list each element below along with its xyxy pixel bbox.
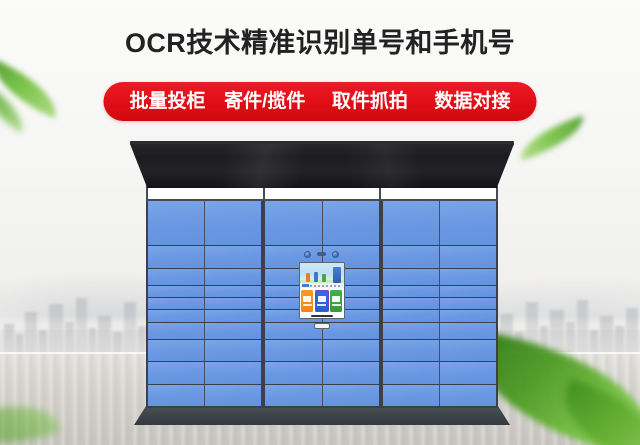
feature-item-0: 批量投柜 bbox=[129, 82, 205, 121]
header-panel-right bbox=[380, 186, 498, 201]
cabinet-header-band bbox=[146, 186, 498, 201]
locker-row bbox=[383, 245, 496, 267]
illustration-person bbox=[322, 274, 326, 282]
locker-door[interactable] bbox=[265, 385, 322, 406]
locker-row bbox=[383, 309, 496, 321]
locker-row bbox=[383, 285, 496, 297]
locker-door[interactable] bbox=[265, 340, 322, 361]
locker-row bbox=[383, 384, 496, 406]
notice-badge bbox=[302, 284, 309, 287]
card-slot-tray[interactable] bbox=[314, 323, 330, 329]
locker-door[interactable] bbox=[205, 310, 261, 321]
locker-row bbox=[148, 309, 261, 321]
locker-door[interactable] bbox=[265, 201, 322, 245]
feature-item-3: 数据对接 bbox=[434, 82, 510, 121]
locker-door[interactable] bbox=[383, 310, 440, 321]
locker-row bbox=[383, 322, 496, 340]
kiosk-button-pickup[interactable] bbox=[315, 290, 329, 312]
locker-row bbox=[148, 201, 261, 245]
locker-door[interactable] bbox=[440, 340, 496, 361]
locker-door[interactable] bbox=[383, 269, 440, 286]
locker-door[interactable] bbox=[323, 385, 379, 406]
smart-locker-cabinet bbox=[146, 186, 498, 408]
locker-door[interactable] bbox=[383, 246, 440, 267]
camera-icon-left bbox=[304, 251, 311, 258]
kiosk-sensor-strip bbox=[299, 249, 345, 259]
locker-row bbox=[383, 268, 496, 286]
locker-door[interactable] bbox=[205, 340, 261, 361]
camera-icon-right bbox=[332, 251, 339, 258]
cabinet-base-plinth bbox=[134, 406, 510, 425]
promo-banner-scene: OCR技术精准识别单号和手机号 批量投柜 寄件/揽件 取件抓拍 数据对接 bbox=[0, 0, 640, 445]
locker-row bbox=[148, 384, 261, 406]
locker-row bbox=[148, 361, 261, 383]
locker-row bbox=[148, 339, 261, 361]
locker-door[interactable] bbox=[148, 269, 205, 286]
locker-left-bay bbox=[146, 201, 263, 408]
kiosk-touchscreen[interactable] bbox=[299, 262, 345, 319]
kiosk-button-send[interactable] bbox=[330, 290, 342, 312]
locker-right-bay bbox=[381, 201, 498, 408]
locker-door[interactable] bbox=[205, 286, 261, 297]
locker-row bbox=[148, 285, 261, 297]
locker-door[interactable] bbox=[205, 246, 261, 267]
locker-row bbox=[148, 297, 261, 309]
locker-row bbox=[265, 339, 378, 361]
locker-door[interactable] bbox=[148, 286, 205, 297]
locker-door[interactable] bbox=[440, 269, 496, 286]
kiosk-hero-illustration bbox=[300, 263, 344, 283]
locker-door[interactable] bbox=[148, 310, 205, 321]
page-title: OCR技术精准识别单号和手机号 bbox=[0, 27, 640, 59]
feature-item-2: 取件抓拍 bbox=[332, 82, 408, 121]
locker-row bbox=[148, 268, 261, 286]
locker-row bbox=[383, 361, 496, 383]
notice-text bbox=[310, 285, 342, 287]
send-label bbox=[332, 304, 341, 306]
scanner-icon bbox=[317, 252, 326, 256]
feature-item-1: 寄件/揽件 bbox=[224, 82, 305, 121]
locker-door[interactable] bbox=[440, 286, 496, 297]
locker-door[interactable] bbox=[148, 340, 205, 361]
header-panel-center bbox=[264, 186, 381, 201]
locker-door[interactable] bbox=[148, 362, 205, 383]
illustration-person bbox=[306, 273, 310, 282]
locker-door[interactable] bbox=[440, 298, 496, 309]
kiosk-button-deposit[interactable] bbox=[301, 290, 313, 312]
locker-door[interactable] bbox=[440, 310, 496, 321]
locker-row bbox=[148, 245, 261, 267]
locker-door[interactable] bbox=[383, 286, 440, 297]
locker-door[interactable] bbox=[383, 201, 440, 245]
city-building bbox=[577, 300, 588, 360]
locker-door[interactable] bbox=[383, 298, 440, 309]
locker-door[interactable] bbox=[440, 385, 496, 406]
locker-door[interactable] bbox=[205, 362, 261, 383]
locker-door[interactable] bbox=[440, 362, 496, 383]
locker-row bbox=[383, 339, 496, 361]
pickup-label bbox=[317, 304, 326, 306]
locker-door[interactable] bbox=[205, 298, 261, 309]
locker-row bbox=[383, 297, 496, 309]
locker-door[interactable] bbox=[323, 362, 379, 383]
locker-door[interactable] bbox=[383, 323, 440, 340]
locker-door[interactable] bbox=[205, 385, 261, 406]
locker-door[interactable] bbox=[148, 298, 205, 309]
locker-door[interactable] bbox=[205, 201, 261, 245]
footer-bar bbox=[311, 315, 333, 317]
locker-row bbox=[383, 201, 496, 245]
locker-row bbox=[265, 384, 378, 406]
locker-row bbox=[148, 322, 261, 340]
locker-door[interactable] bbox=[383, 385, 440, 406]
illustration-locker bbox=[333, 267, 341, 283]
locker-door[interactable] bbox=[205, 323, 261, 340]
locker-center-bay bbox=[263, 201, 380, 408]
send-icon bbox=[332, 296, 340, 302]
header-panel-left bbox=[146, 186, 264, 201]
locker-door[interactable] bbox=[323, 201, 379, 245]
deposit-icon bbox=[303, 296, 311, 302]
locker-door[interactable] bbox=[205, 269, 261, 286]
locker-door[interactable] bbox=[323, 340, 379, 361]
locker-door[interactable] bbox=[383, 362, 440, 383]
kiosk-action-buttons bbox=[300, 288, 344, 314]
locker-row bbox=[265, 361, 378, 383]
locker-door[interactable] bbox=[383, 340, 440, 361]
locker-row bbox=[265, 201, 378, 245]
locker-door[interactable] bbox=[148, 323, 205, 340]
locker-bays bbox=[146, 201, 498, 408]
kiosk-panel bbox=[299, 249, 345, 329]
feature-pill: 批量投柜 寄件/揽件 取件抓拍 数据对接 bbox=[103, 82, 536, 121]
canopy-roof bbox=[130, 144, 514, 188]
locker-door[interactable] bbox=[148, 201, 205, 245]
locker-door[interactable] bbox=[440, 201, 496, 245]
deposit-label bbox=[303, 304, 312, 306]
illustration-person bbox=[314, 272, 318, 282]
locker-door[interactable] bbox=[440, 246, 496, 267]
city-building bbox=[76, 298, 87, 360]
pickup-icon bbox=[318, 296, 326, 302]
locker-door[interactable] bbox=[440, 323, 496, 340]
locker-door[interactable] bbox=[148, 385, 205, 406]
locker-door[interactable] bbox=[148, 246, 205, 267]
locker-door[interactable] bbox=[265, 362, 322, 383]
kiosk-screen-footer bbox=[300, 314, 344, 318]
